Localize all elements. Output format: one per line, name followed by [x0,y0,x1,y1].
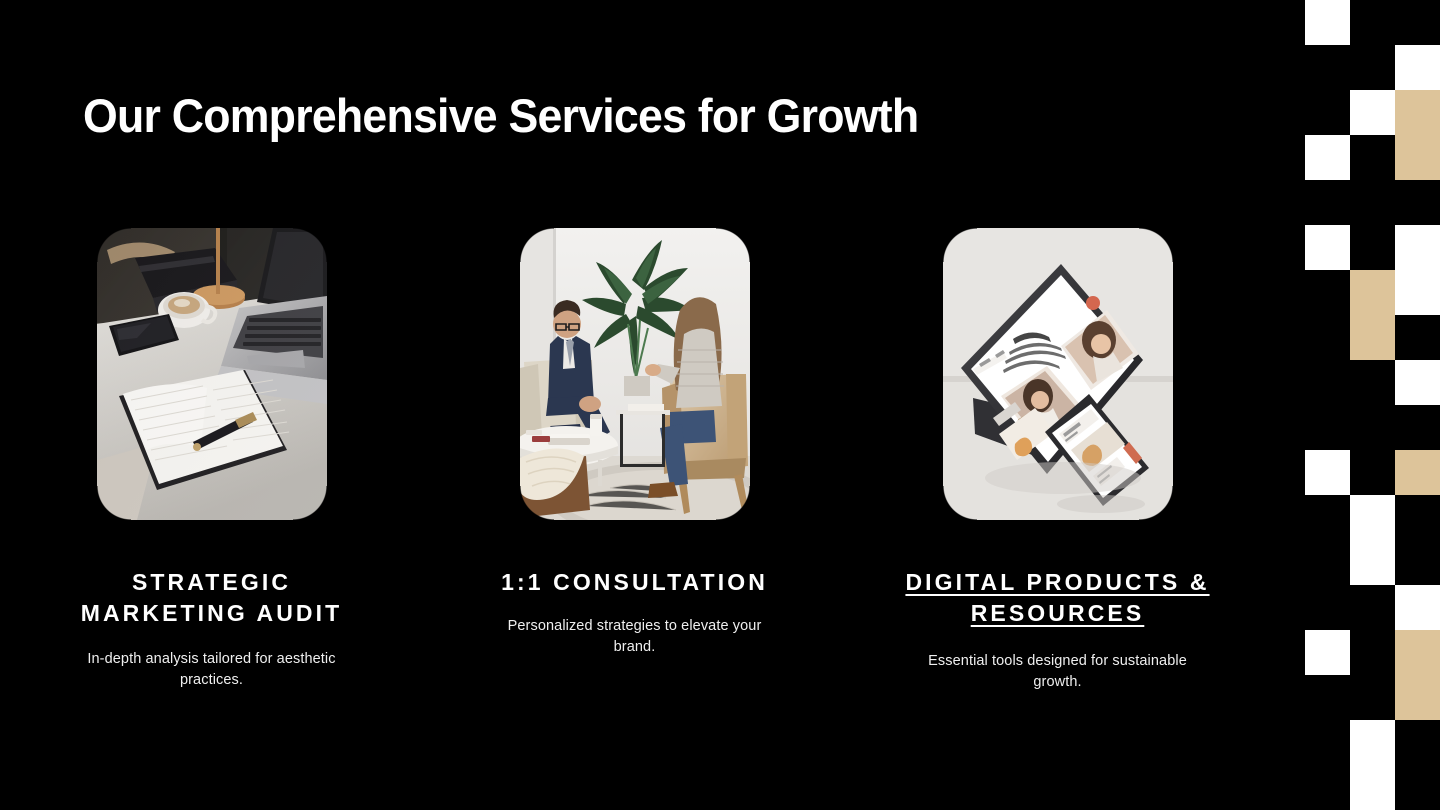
card-heading-one-to-one-consultation: 1:1 CONSULTATION [470,567,800,598]
card-heading-strategic-marketing-audit: STRATEGIC MARKETING AUDIT [47,567,377,629]
checker-cell [1350,90,1395,135]
checker-cell [1395,135,1440,180]
checker-cell [1305,630,1350,675]
checkerboard-pattern [1290,0,1440,810]
card-description-digital-products-resources: Essential tools designed for sustainable… [919,651,1197,693]
consultation-illustration [520,228,750,520]
services-slide: Our Comprehensive Services for Growth [0,0,1440,810]
page-title: Our Comprehensive Services for Growth [83,86,918,146]
card-heading-digital-products-resources[interactable]: DIGITAL PRODUCTS & RESOURCES [893,567,1223,629]
services-card-row: STRATEGIC MARKETING AUDIT In-depth analy… [0,228,1270,693]
checker-cell [1305,450,1350,495]
tablet-phone-mockup-photo [943,228,1173,520]
consultation-meeting-photo [520,228,750,520]
card-description-one-to-one-consultation: Personalized strategies to elevate your … [496,616,774,658]
checker-cell [1395,90,1440,135]
service-card-strategic-marketing-audit[interactable]: STRATEGIC MARKETING AUDIT In-depth analy… [0,228,423,693]
device-mockup-illustration [943,228,1173,520]
checker-cell [1305,0,1350,45]
checker-cell [1350,495,1395,540]
checker-cell [1395,675,1440,720]
checker-cell [1395,225,1440,270]
service-card-one-to-one-consultation[interactable]: 1:1 CONSULTATION Personalized strategies… [423,228,846,693]
checker-cell [1395,360,1440,405]
checker-cell [1350,315,1395,360]
checker-cell [1305,225,1350,270]
checker-cell [1350,720,1395,765]
checker-cell [1395,270,1440,315]
checker-cell [1350,540,1395,585]
checker-cell [1395,630,1440,675]
checker-cell [1395,585,1440,630]
checker-cell [1350,270,1395,315]
desk-workspace-photo [97,228,327,520]
desk-workspace-illustration [97,228,327,520]
checker-cell [1350,765,1395,810]
card-description-strategic-marketing-audit: In-depth analysis tailored for aesthetic… [73,649,351,691]
checker-cell [1395,450,1440,495]
checker-cell [1395,45,1440,90]
service-card-digital-products-resources[interactable]: DIGITAL PRODUCTS & RESOURCES Essential t… [846,228,1269,693]
checker-cell [1305,135,1350,180]
